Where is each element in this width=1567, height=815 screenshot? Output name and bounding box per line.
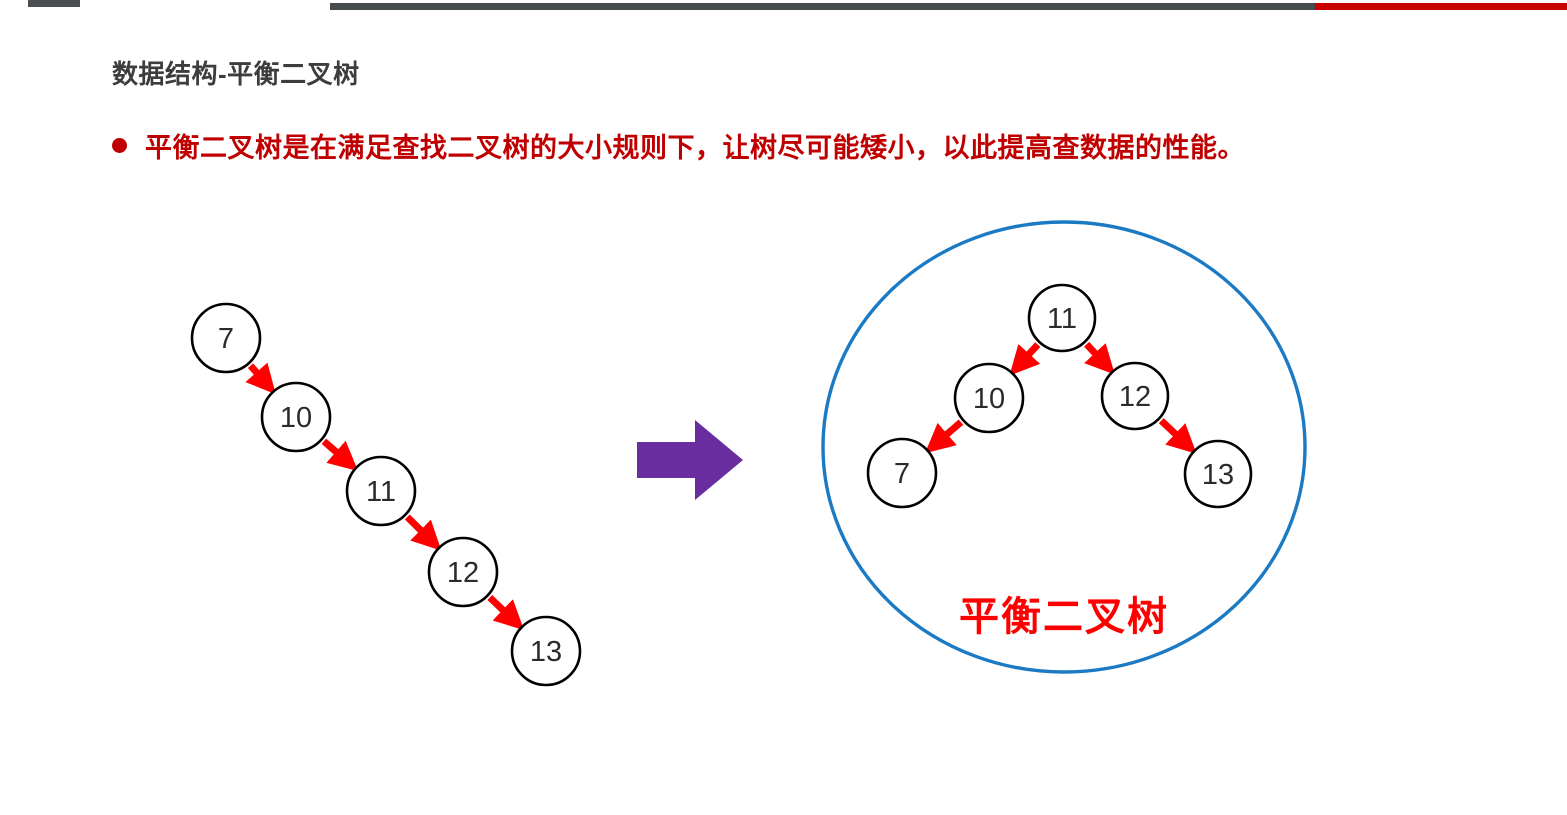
balanced-tree-caption: 平衡二叉树 xyxy=(823,584,1305,642)
tree-node-label: 10 xyxy=(280,402,312,434)
tree-edge-arrow xyxy=(251,366,267,384)
tree-diagram: 710111213111012713 xyxy=(0,0,1567,815)
tree-edge-arrow xyxy=(324,441,347,461)
tree-node: 10 xyxy=(955,364,1023,432)
tree-edge-arrow xyxy=(936,422,961,443)
tree-node: 13 xyxy=(1185,441,1251,507)
tree-node-label: 13 xyxy=(1202,459,1234,491)
tree-edge-arrow xyxy=(1019,345,1037,365)
tree-node: 7 xyxy=(868,439,936,507)
tree-node: 12 xyxy=(429,538,497,606)
tree-node-label: 11 xyxy=(366,476,396,508)
tree-node-label: 12 xyxy=(1119,381,1151,413)
tree-node-label: 11 xyxy=(1047,303,1077,335)
transform-arrow-icon xyxy=(637,420,743,500)
tree-node-label: 7 xyxy=(894,458,910,490)
tree-edge-arrow xyxy=(490,598,514,620)
tree-node-label: 7 xyxy=(218,323,234,355)
tree-node: 10 xyxy=(262,383,330,451)
tree-node-label: 12 xyxy=(447,557,479,589)
tree-node: 11 xyxy=(1029,285,1095,351)
slide-canvas: 数据结构-平衡二叉树 平衡二叉树是在满足查找二叉树的大小规则下，让树尽可能矮小，… xyxy=(0,0,1567,815)
tree-node: 7 xyxy=(192,304,260,372)
tree-node-label: 13 xyxy=(530,636,562,668)
tree-edge-arrow xyxy=(407,517,431,540)
tree-node: 11 xyxy=(347,457,415,525)
tree-node: 12 xyxy=(1102,363,1168,429)
tree-node: 13 xyxy=(512,617,580,685)
tree-edge-arrow xyxy=(1161,421,1186,444)
tree-edge-arrow xyxy=(1087,344,1105,364)
tree-node-label: 10 xyxy=(973,383,1005,415)
